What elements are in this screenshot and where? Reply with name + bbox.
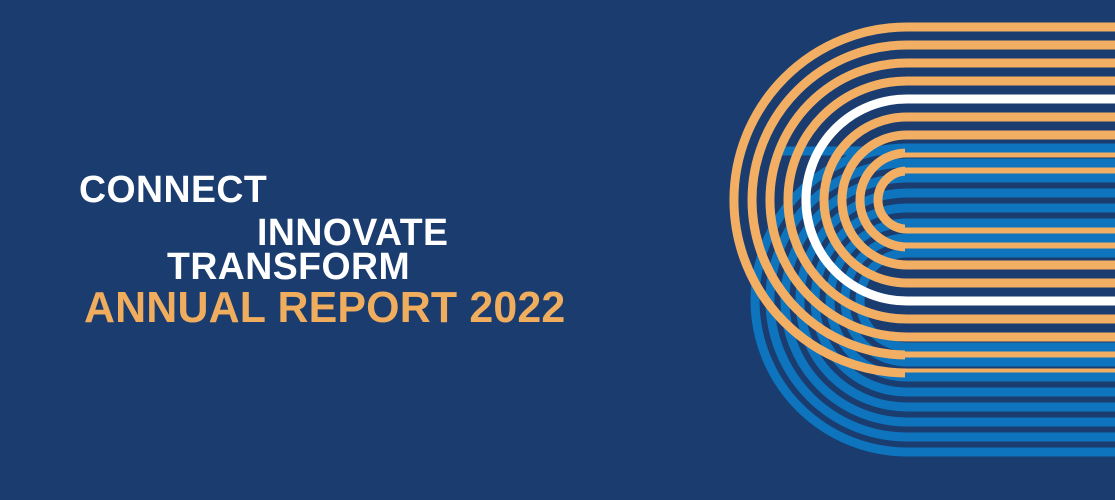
- annual-report-cover: CONNECT INNOVATE TRANSFORM ANNUAL REPORT…: [0, 0, 1115, 500]
- headline-block: CONNECT INNOVATE TRANSFORM ANNUAL REPORT…: [0, 0, 600, 500]
- headline-line-connect: CONNECT: [79, 171, 267, 209]
- headline-line-transform: TRANSFORM: [167, 248, 410, 286]
- report-title: ANNUAL REPORT 2022: [84, 286, 565, 330]
